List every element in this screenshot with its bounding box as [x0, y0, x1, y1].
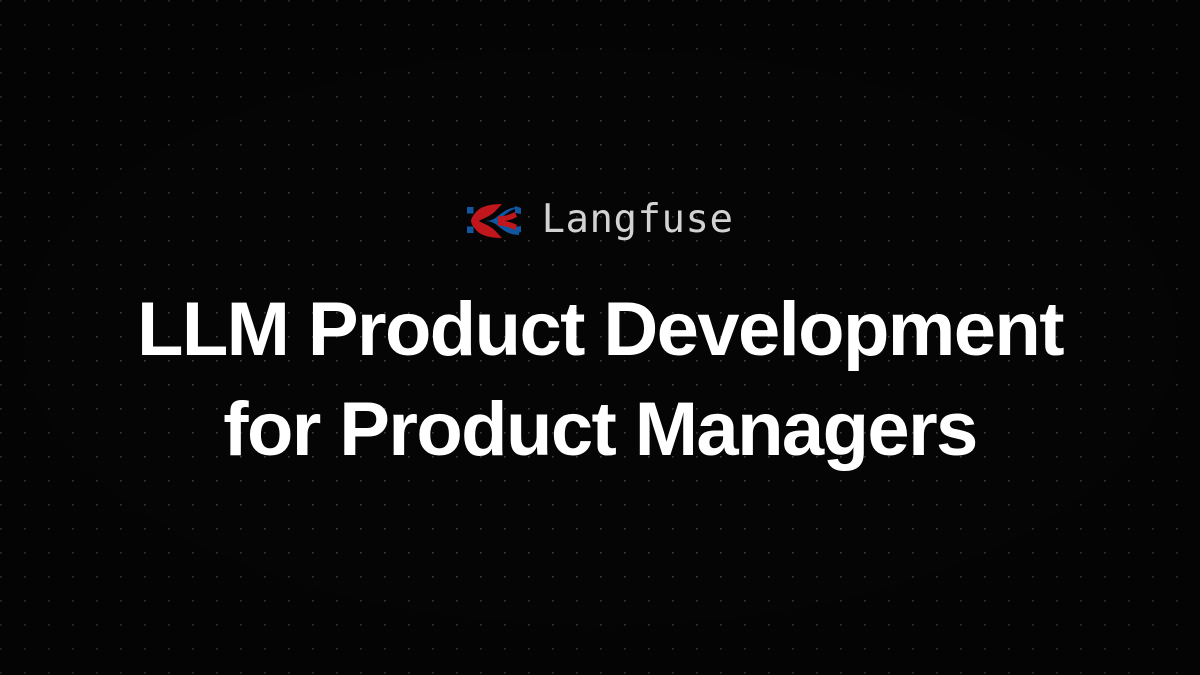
page-title: LLM Product Development for Product Mana… — [137, 280, 1063, 480]
page-title-line-1: LLM Product Development — [137, 280, 1063, 380]
content-stack: Langfuse LLM Product Development for Pro… — [0, 0, 1200, 675]
brand-lockup: Langfuse — [467, 196, 734, 244]
page-title-line-2: for Product Managers — [137, 380, 1063, 480]
brand-wordmark: Langfuse — [542, 200, 734, 239]
langfuse-logo-icon — [467, 201, 521, 239]
og-card: Langfuse LLM Product Development for Pro… — [0, 0, 1200, 675]
